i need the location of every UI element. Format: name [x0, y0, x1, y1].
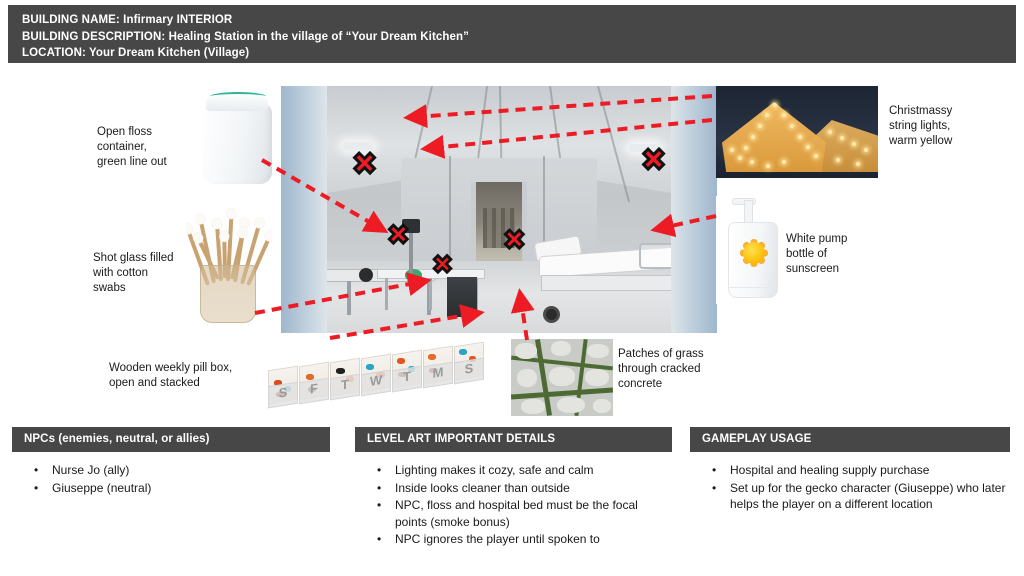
pill-lid-thursday: T: [330, 374, 360, 401]
building-header: BUILDING NAME: Infirmary INTERIOR BUILDI…: [8, 5, 1016, 63]
annotation-swabs-line2: with cotton: [93, 266, 189, 281]
panel-npcs: NPCs (enemies, neutral, or allies) Nurse…: [12, 427, 330, 497]
building-description-line: BUILDING DESCRIPTION: Healing Station in…: [22, 29, 1002, 46]
building-name-line: BUILDING NAME: Infirmary INTERIOR: [22, 12, 1002, 29]
thumbnail-sunscreen-bottle: [716, 196, 792, 304]
panel-level-art-list: Lighting makes it cozy, safe and calm In…: [359, 462, 668, 548]
focal-marker-x-5: ✖: [503, 227, 526, 254]
annotation-swabs-line3: swabs: [93, 281, 189, 296]
annotation-floss-line3: green line out: [97, 155, 187, 170]
list-item: NPC, floss and hospital bed must be the …: [359, 497, 668, 530]
green-oxygen-mask: [405, 269, 422, 281]
list-item: Nurse Jo (ally): [16, 462, 326, 479]
annotation-grass-label: Patches of grass through cracked concret…: [618, 347, 728, 392]
panel-npcs-list: Nurse Jo (ally) Giuseppe (neutral): [16, 462, 326, 496]
panel-level-art-title: LEVEL ART IMPORTANT DETAILS: [355, 427, 672, 452]
thumbnail-cotton-swabs: [186, 207, 272, 323]
thumbnail-floss-container: [196, 88, 280, 186]
pill-lid-saturday: S: [454, 358, 484, 385]
lit-canopy-left: [722, 102, 826, 172]
thumbnail-weekly-pill-box: S F T W T M S: [266, 342, 488, 414]
pill-lid-wednesday: W: [361, 370, 391, 397]
annotation-sunscreen-line2: bottle of: [786, 247, 874, 262]
list-item: Hospital and healing supply purchase: [694, 462, 1006, 479]
list-item: Giuseppe (neutral): [16, 480, 326, 497]
annotation-swabs-label: Shot glass filled with cotton swabs: [93, 251, 189, 296]
panel-gameplay-usage: GAMEPLAY USAGE Hospital and healing supp…: [690, 427, 1010, 514]
annotation-floss-line2: container,: [97, 140, 187, 155]
focal-marker-x-3: ✖: [387, 222, 410, 249]
pill-lid-sunday: S: [268, 382, 298, 409]
list-item: Inside looks cleaner than outside: [359, 480, 668, 497]
thumbnail-grass-cracked-concrete: [511, 339, 613, 416]
list-item: NPC ignores the player until spoken to: [359, 531, 668, 548]
annotation-pillbox-line1: Wooden weekly pill box,: [109, 361, 269, 376]
annotation-swabs-line1: Shot glass filled: [93, 251, 189, 266]
panel-level-art: LEVEL ART IMPORTANT DETAILS Lighting mak…: [355, 427, 672, 549]
pill-lid-friday: F: [299, 378, 329, 405]
list-item: Set up for the gecko character (Giuseppe…: [694, 480, 1006, 513]
panel-gameplay-usage-list: Hospital and healing supply purchase Set…: [694, 462, 1006, 513]
thumbnail-string-lights: [716, 86, 878, 178]
list-item: Lighting makes it cozy, safe and calm: [359, 462, 668, 479]
annotation-grass-line3: concrete: [618, 377, 728, 392]
shot-glass: [200, 265, 256, 323]
building-location-line: LOCATION: Your Dream Kitchen (Village): [22, 45, 1002, 62]
annotation-pillbox-line2: open and stacked: [109, 376, 269, 391]
annotation-lights-label: Christmassy string lights, warm yellow: [889, 104, 989, 149]
annotation-floss-label: Open floss container, green line out: [97, 125, 187, 170]
annotation-lights-line1: Christmassy: [889, 104, 989, 119]
reference-photo-tent-interior: [281, 86, 717, 333]
focal-marker-x-4: ✖: [432, 253, 453, 278]
tent-curtain-left: [281, 86, 327, 333]
pill-lid-tuesday: T: [392, 366, 422, 393]
focal-marker-x-1: ✖: [352, 150, 377, 180]
equipment-crate: [447, 277, 477, 317]
tent-curtain-right: [671, 86, 717, 333]
annotation-floss-line1: Open floss: [97, 125, 187, 140]
annotation-sunscreen-label: White pump bottle of sunscreen: [786, 232, 874, 277]
annotation-pillbox-label: Wooden weekly pill box, open and stacked: [109, 361, 269, 391]
slide-canvas: BUILDING NAME: Infirmary INTERIOR BUILDI…: [0, 0, 1024, 576]
panel-gameplay-usage-title: GAMEPLAY USAGE: [690, 427, 1010, 452]
sun-icon: [743, 242, 765, 264]
focal-marker-x-2: ✖: [641, 146, 666, 176]
annotation-lights-line3: warm yellow: [889, 134, 989, 149]
pill-lid-monday: M: [423, 362, 453, 389]
annotation-grass-line1: Patches of grass: [618, 347, 728, 362]
annotation-grass-line2: through cracked: [618, 362, 728, 377]
annotation-sunscreen-line3: sunscreen: [786, 262, 874, 277]
annotation-sunscreen-line1: White pump: [786, 232, 874, 247]
lit-canopy-right: [812, 120, 878, 172]
floss-green-line: [210, 92, 266, 101]
panel-npcs-title: NPCs (enemies, neutral, or allies): [12, 427, 330, 452]
annotation-lights-line2: string lights,: [889, 119, 989, 134]
